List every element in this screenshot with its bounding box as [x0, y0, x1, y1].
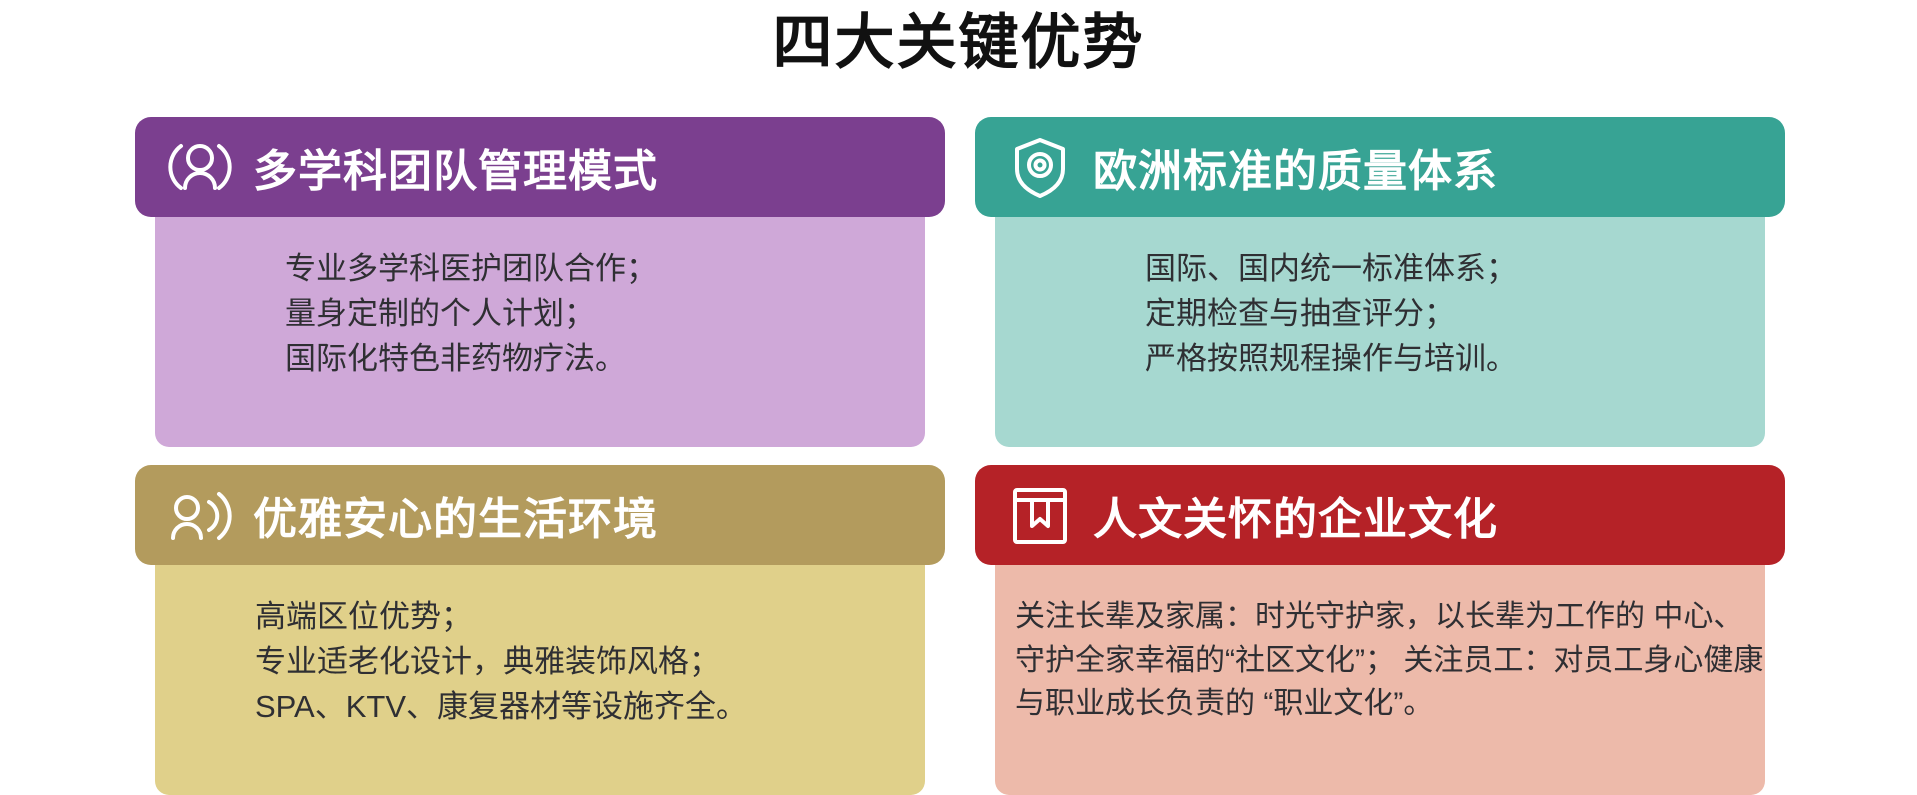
card-header: 欧洲标准的质量体系 [975, 117, 1785, 217]
card-body: 高端区位优势； 专业适老化设计，典雅装饰风格； SPA、KTV、康复器材等设施齐… [155, 543, 925, 795]
card-body: 专业多学科医护团队合作； 量身定制的个人计划； 国际化特色非药物疗法。 [155, 195, 925, 447]
card-header: 人文关怀的企业文化 [975, 465, 1785, 565]
book-bookmark-icon [1005, 480, 1075, 550]
shield-award-icon [1005, 132, 1075, 202]
card-title: 优雅安心的生活环境 [253, 483, 658, 547]
card-title: 欧洲标准的质量体系 [1093, 135, 1498, 199]
card-title: 多学科团队管理模式 [253, 135, 658, 199]
page-title: 四大关键优势 [0, 8, 1917, 77]
card-body-text: 国际、国内统一标准体系； 定期检查与抽查评分； 严格按照规程操作与培训。 [995, 247, 1765, 382]
card-body-text: 高端区位优势； 专业适老化设计，典雅装饰风格； SPA、KTV、康复器材等设施齐… [155, 595, 925, 730]
card-header: 优雅安心的生活环境 [135, 465, 945, 565]
people-group-icon [165, 132, 235, 202]
advantage-card-european-quality-standard: 国际、国内统一标准体系； 定期检查与抽查评分； 严格按照规程操作与培训。 欧洲标… [975, 117, 1785, 447]
advantage-card-grid: 专业多学科医护团队合作； 量身定制的个人计划； 国际化特色非药物疗法。 多学科团… [135, 117, 1785, 795]
person-care-icon [165, 480, 235, 550]
card-body: 关注长辈及家属：时光守护家，以长辈为工作的 中心、守护全家幸福的“社区文化”； … [995, 543, 1765, 795]
card-header: 多学科团队管理模式 [135, 117, 945, 217]
infographic-page: 四大关键优势 专业多学科医护团队合作； 量身定制的个人计划； 国际化特色非药物疗… [0, 0, 1917, 794]
card-body-text: 关注长辈及家属：时光守护家，以长辈为工作的 中心、守护全家幸福的“社区文化”； … [995, 595, 1765, 726]
card-body: 国际、国内统一标准体系； 定期检查与抽查评分； 严格按照规程操作与培训。 [995, 195, 1765, 447]
card-title: 人文关怀的企业文化 [1093, 483, 1498, 547]
advantage-card-multidisciplinary-team: 专业多学科医护团队合作； 量身定制的个人计划； 国际化特色非药物疗法。 多学科团… [135, 117, 945, 447]
advantage-card-humanistic-corporate-culture: 关注长辈及家属：时光守护家，以长辈为工作的 中心、守护全家幸福的“社区文化”； … [975, 465, 1785, 795]
advantage-card-elegant-living-environment: 高端区位优势； 专业适老化设计，典雅装饰风格； SPA、KTV、康复器材等设施齐… [135, 465, 945, 795]
card-body-text: 专业多学科医护团队合作； 量身定制的个人计划； 国际化特色非药物疗法。 [155, 247, 925, 382]
